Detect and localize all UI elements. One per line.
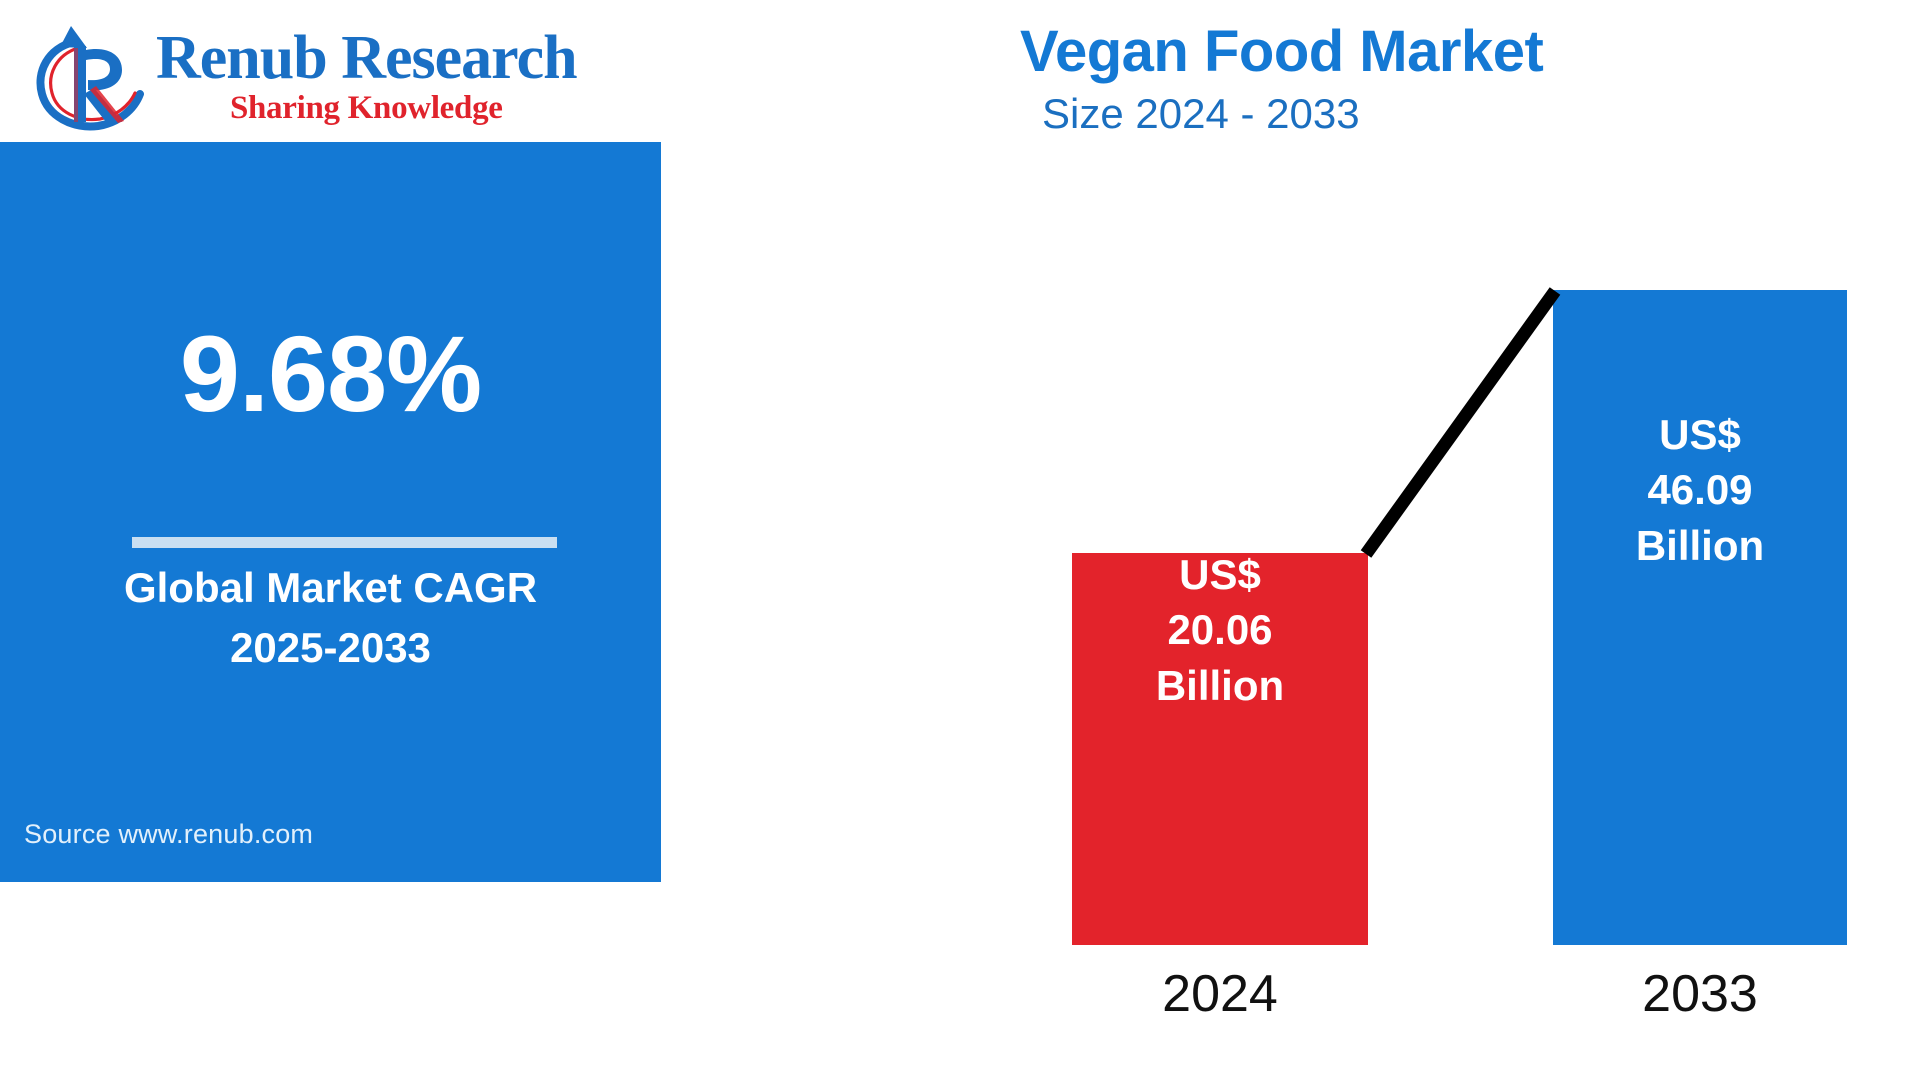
- renub-r-swoosh-logo-icon: [30, 22, 148, 134]
- infographic-root: Renub Research Sharing Knowledge Vegan F…: [0, 0, 1920, 1080]
- bar-2033-number: 46.09: [1553, 462, 1847, 517]
- bar-2024-value-label: US$ 20.06 Billion: [1072, 547, 1368, 713]
- bar-2024-unit: Billion: [1072, 658, 1368, 713]
- cagr-value: 9.68%: [0, 320, 661, 428]
- page-subtitle: Size 2024 - 2033: [1042, 89, 1720, 139]
- cagr-stat-panel: 9.68% Global Market CAGR 2025-2033 Sourc…: [0, 142, 661, 882]
- bar-chart: US$ 20.06 Billion US$ 46.09 Billion 2024…: [660, 142, 1920, 1080]
- page-title: Vegan Food Market: [1020, 20, 1720, 85]
- brand-wordmark: Renub Research Sharing Knowledge: [156, 28, 577, 128]
- x-axis-label-2033: 2033: [1553, 968, 1847, 1020]
- cagr-divider: [132, 537, 557, 548]
- bar-2033-value-label: US$ 46.09 Billion: [1553, 407, 1847, 573]
- bar-2024-currency: US$: [1072, 547, 1368, 602]
- bar-2033-unit: Billion: [1553, 518, 1847, 573]
- x-axis-label-2024: 2024: [1072, 968, 1368, 1020]
- brand-name: Renub Research: [156, 28, 577, 89]
- source-text: Source www.renub.com: [24, 819, 313, 850]
- title-block: Vegan Food Market Size 2024 - 2033: [1020, 20, 1720, 139]
- trend-line: [1366, 291, 1555, 554]
- cagr-period: 2025-2033: [0, 622, 661, 675]
- bar-2033: [1553, 290, 1847, 945]
- bar-2024-number: 20.06: [1072, 602, 1368, 657]
- cagr-label: Global Market CAGR: [0, 562, 661, 615]
- brand-logo-block: Renub Research Sharing Knowledge: [30, 18, 670, 138]
- brand-tagline: Sharing Knowledge: [230, 90, 503, 128]
- bar-2033-currency: US$: [1553, 407, 1847, 462]
